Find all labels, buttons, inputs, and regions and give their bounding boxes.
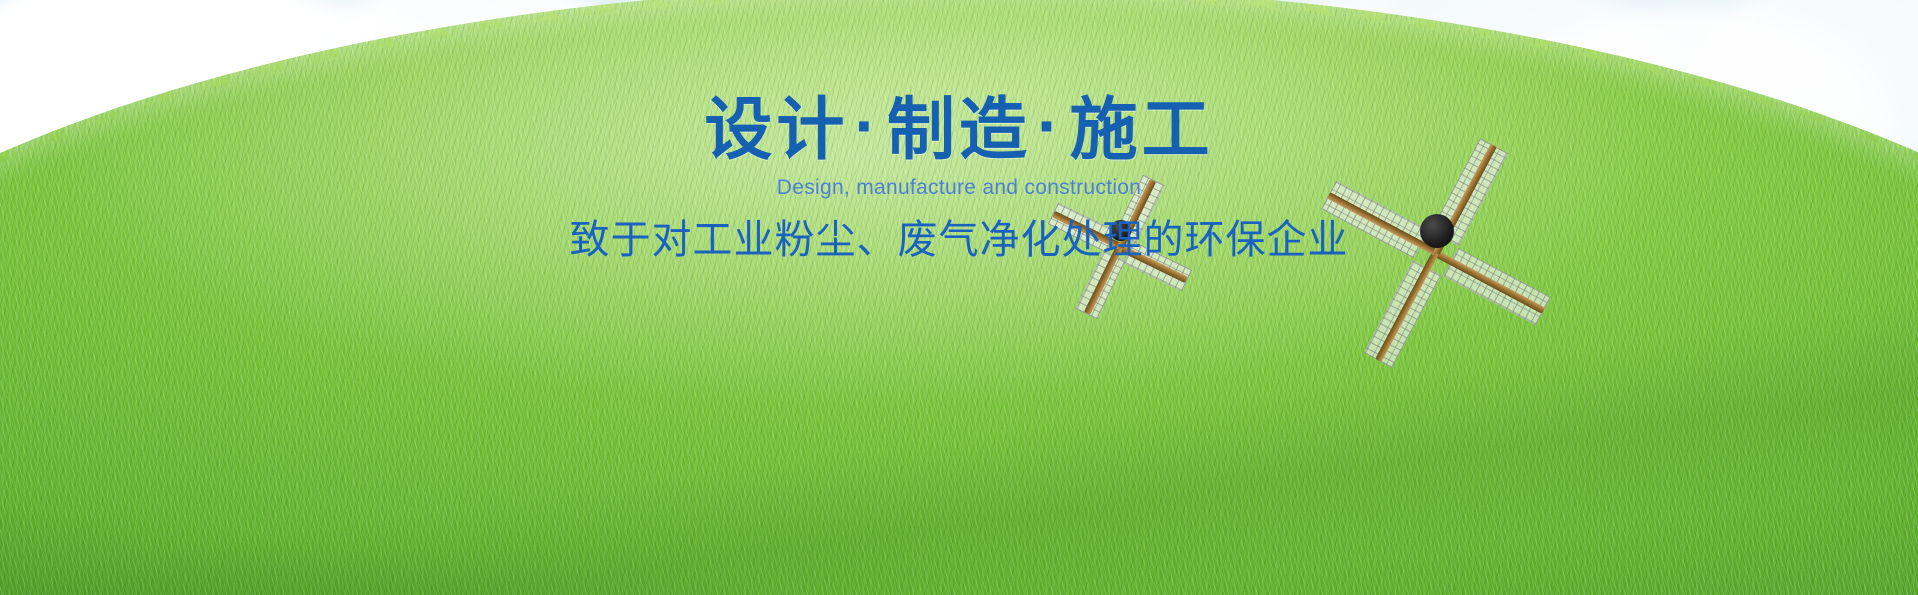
grass-hill: [0, 0, 1918, 595]
hero-banner: 设计·制造·施工 Design, manufacture and constru…: [0, 0, 1918, 595]
